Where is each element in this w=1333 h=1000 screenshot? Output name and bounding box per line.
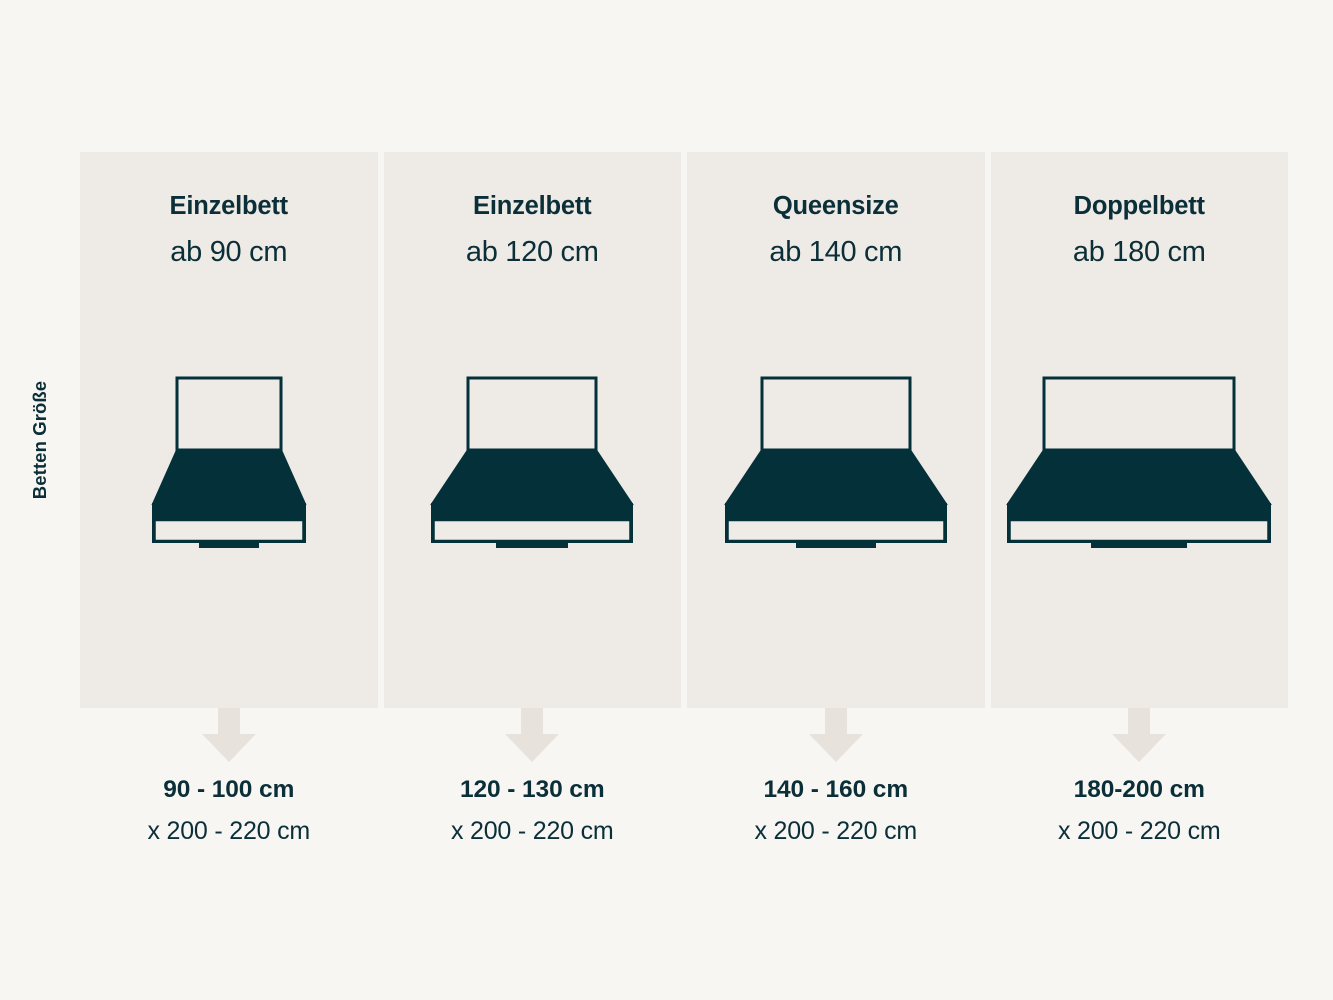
panel-queensize-140: Queensize ab 140 cm [687,152,985,708]
panel-einzelbett-120: Einzelbett ab 120 cm [384,152,682,708]
bed-front-icon [420,370,644,546]
panel-row: Einzelbett ab 90 cm Einzelbett ab 120 cm [80,152,1288,708]
caption-length: x 200 - 220 cm [754,819,917,844]
caption-width: 180-200 cm [1074,778,1205,803]
caption-cell: 90 - 100 cm x 200 - 220 cm [80,778,378,868]
bed-illustration-wrap [384,368,682,708]
panel-subtitle: ab 180 cm [1073,238,1206,267]
caption-cell: 120 - 130 cm x 200 - 220 cm [384,778,682,868]
bed-illustration-wrap [991,368,1289,708]
arrow-row [80,708,1288,770]
caption-width: 140 - 160 cm [763,778,908,803]
bed-size-infographic: Betten Größe Einzelbett ab 90 cm Einzelb… [0,0,1333,1000]
bed-front-icon [996,370,1282,546]
caption-width: 90 - 100 cm [163,778,294,803]
arrow-cell [80,708,378,770]
axis-label-text: Betten Größe [29,381,51,499]
panel-title: Einzelbett [170,194,288,220]
arrow-down-icon [807,708,865,764]
arrow-down-icon [503,708,561,764]
panel-subtitle: ab 90 cm [170,238,287,267]
panel-subtitle: ab 140 cm [769,238,902,267]
arrow-down-icon [1110,708,1168,764]
caption-cell: 140 - 160 cm x 200 - 220 cm [687,778,985,868]
caption-length: x 200 - 220 cm [147,819,310,844]
arrow-cell [991,708,1289,770]
bed-illustration-wrap [687,368,985,708]
panel-doppelbett-180: Doppelbett ab 180 cm [991,152,1289,708]
caption-row: 90 - 100 cm x 200 - 220 cm 120 - 130 cm … [80,778,1288,868]
panel-einzelbett-90: Einzelbett ab 90 cm [80,152,378,708]
panel-title: Doppelbett [1074,194,1205,220]
arrow-cell [384,708,682,770]
panel-subtitle: ab 120 cm [466,238,599,267]
caption-width: 120 - 130 cm [460,778,605,803]
caption-cell: 180-200 cm x 200 - 220 cm [991,778,1289,868]
bed-front-icon [714,370,958,546]
panel-title: Queensize [773,194,899,220]
bed-illustration-wrap [80,368,378,708]
caption-length: x 200 - 220 cm [1058,819,1221,844]
panel-title: Einzelbett [473,194,591,220]
bed-front-icon [141,370,317,546]
arrow-down-icon [200,708,258,764]
arrow-cell [687,708,985,770]
caption-length: x 200 - 220 cm [451,819,614,844]
axis-label-vertical: Betten Größe [0,330,80,550]
